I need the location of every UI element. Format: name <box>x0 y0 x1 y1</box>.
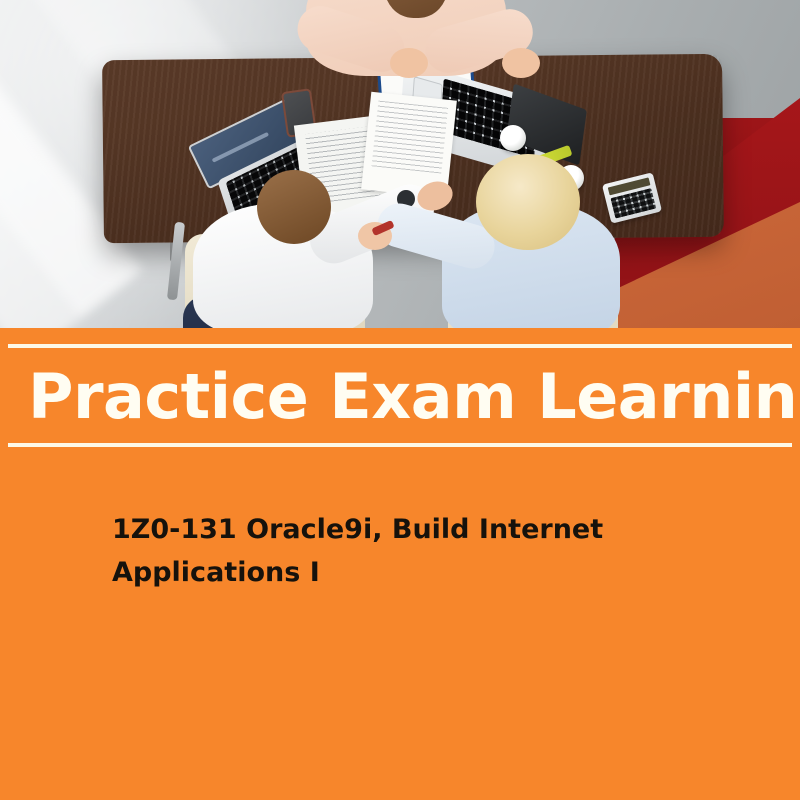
person-head <box>257 170 331 244</box>
person-top <box>306 0 506 106</box>
page-title: Practice Exam Learning <box>28 354 778 438</box>
divider-top <box>8 344 792 348</box>
coffee-cup <box>500 125 526 151</box>
exam-title: 1Z0-131 Oracle9i, Build Internet Applica… <box>112 508 712 594</box>
person-head <box>476 154 580 250</box>
divider-bottom <box>8 443 792 447</box>
hero-photo <box>0 0 800 328</box>
exam-title-line-1: 1Z0-131 Oracle9i, Build Internet <box>112 508 712 551</box>
exam-title-line-2: Applications I <box>112 551 712 594</box>
exam-cover-page: Practice Exam Learning 1Z0-131 Oracle9i,… <box>0 0 800 800</box>
person-right <box>420 160 650 328</box>
orange-content-panel: Practice Exam Learning 1Z0-131 Oracle9i,… <box>0 328 800 800</box>
person-center <box>185 176 435 328</box>
person-hand <box>390 48 428 78</box>
person-hand <box>502 48 540 78</box>
